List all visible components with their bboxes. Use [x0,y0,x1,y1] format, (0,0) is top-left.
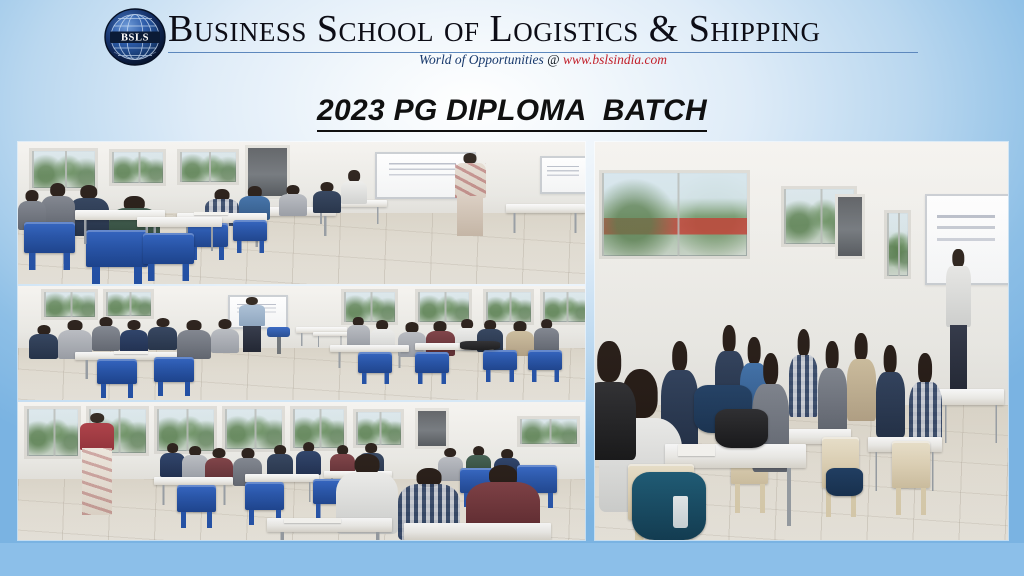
photo-classroom-students-rear-view [595,142,1008,540]
water-bottle [673,496,687,528]
backpack [715,409,769,449]
bottom-color-band [0,543,1024,576]
trainer-figure [946,249,971,400]
trainer-figure [239,297,265,352]
photo-classroom-window-side-female-trainer [18,402,585,540]
photo-classroom-lecture-female-trainer [18,142,585,284]
student-foreground [595,341,636,460]
photo-gallery [0,0,1024,576]
backpack [632,472,706,540]
backpack [826,468,863,496]
trainer-figure [80,413,114,515]
presentation-slide: BSLS Business School of Logistics & Ship… [0,0,1024,576]
photo-classroom-wide-male-trainer [18,286,585,400]
trainer-figure [455,153,486,235]
